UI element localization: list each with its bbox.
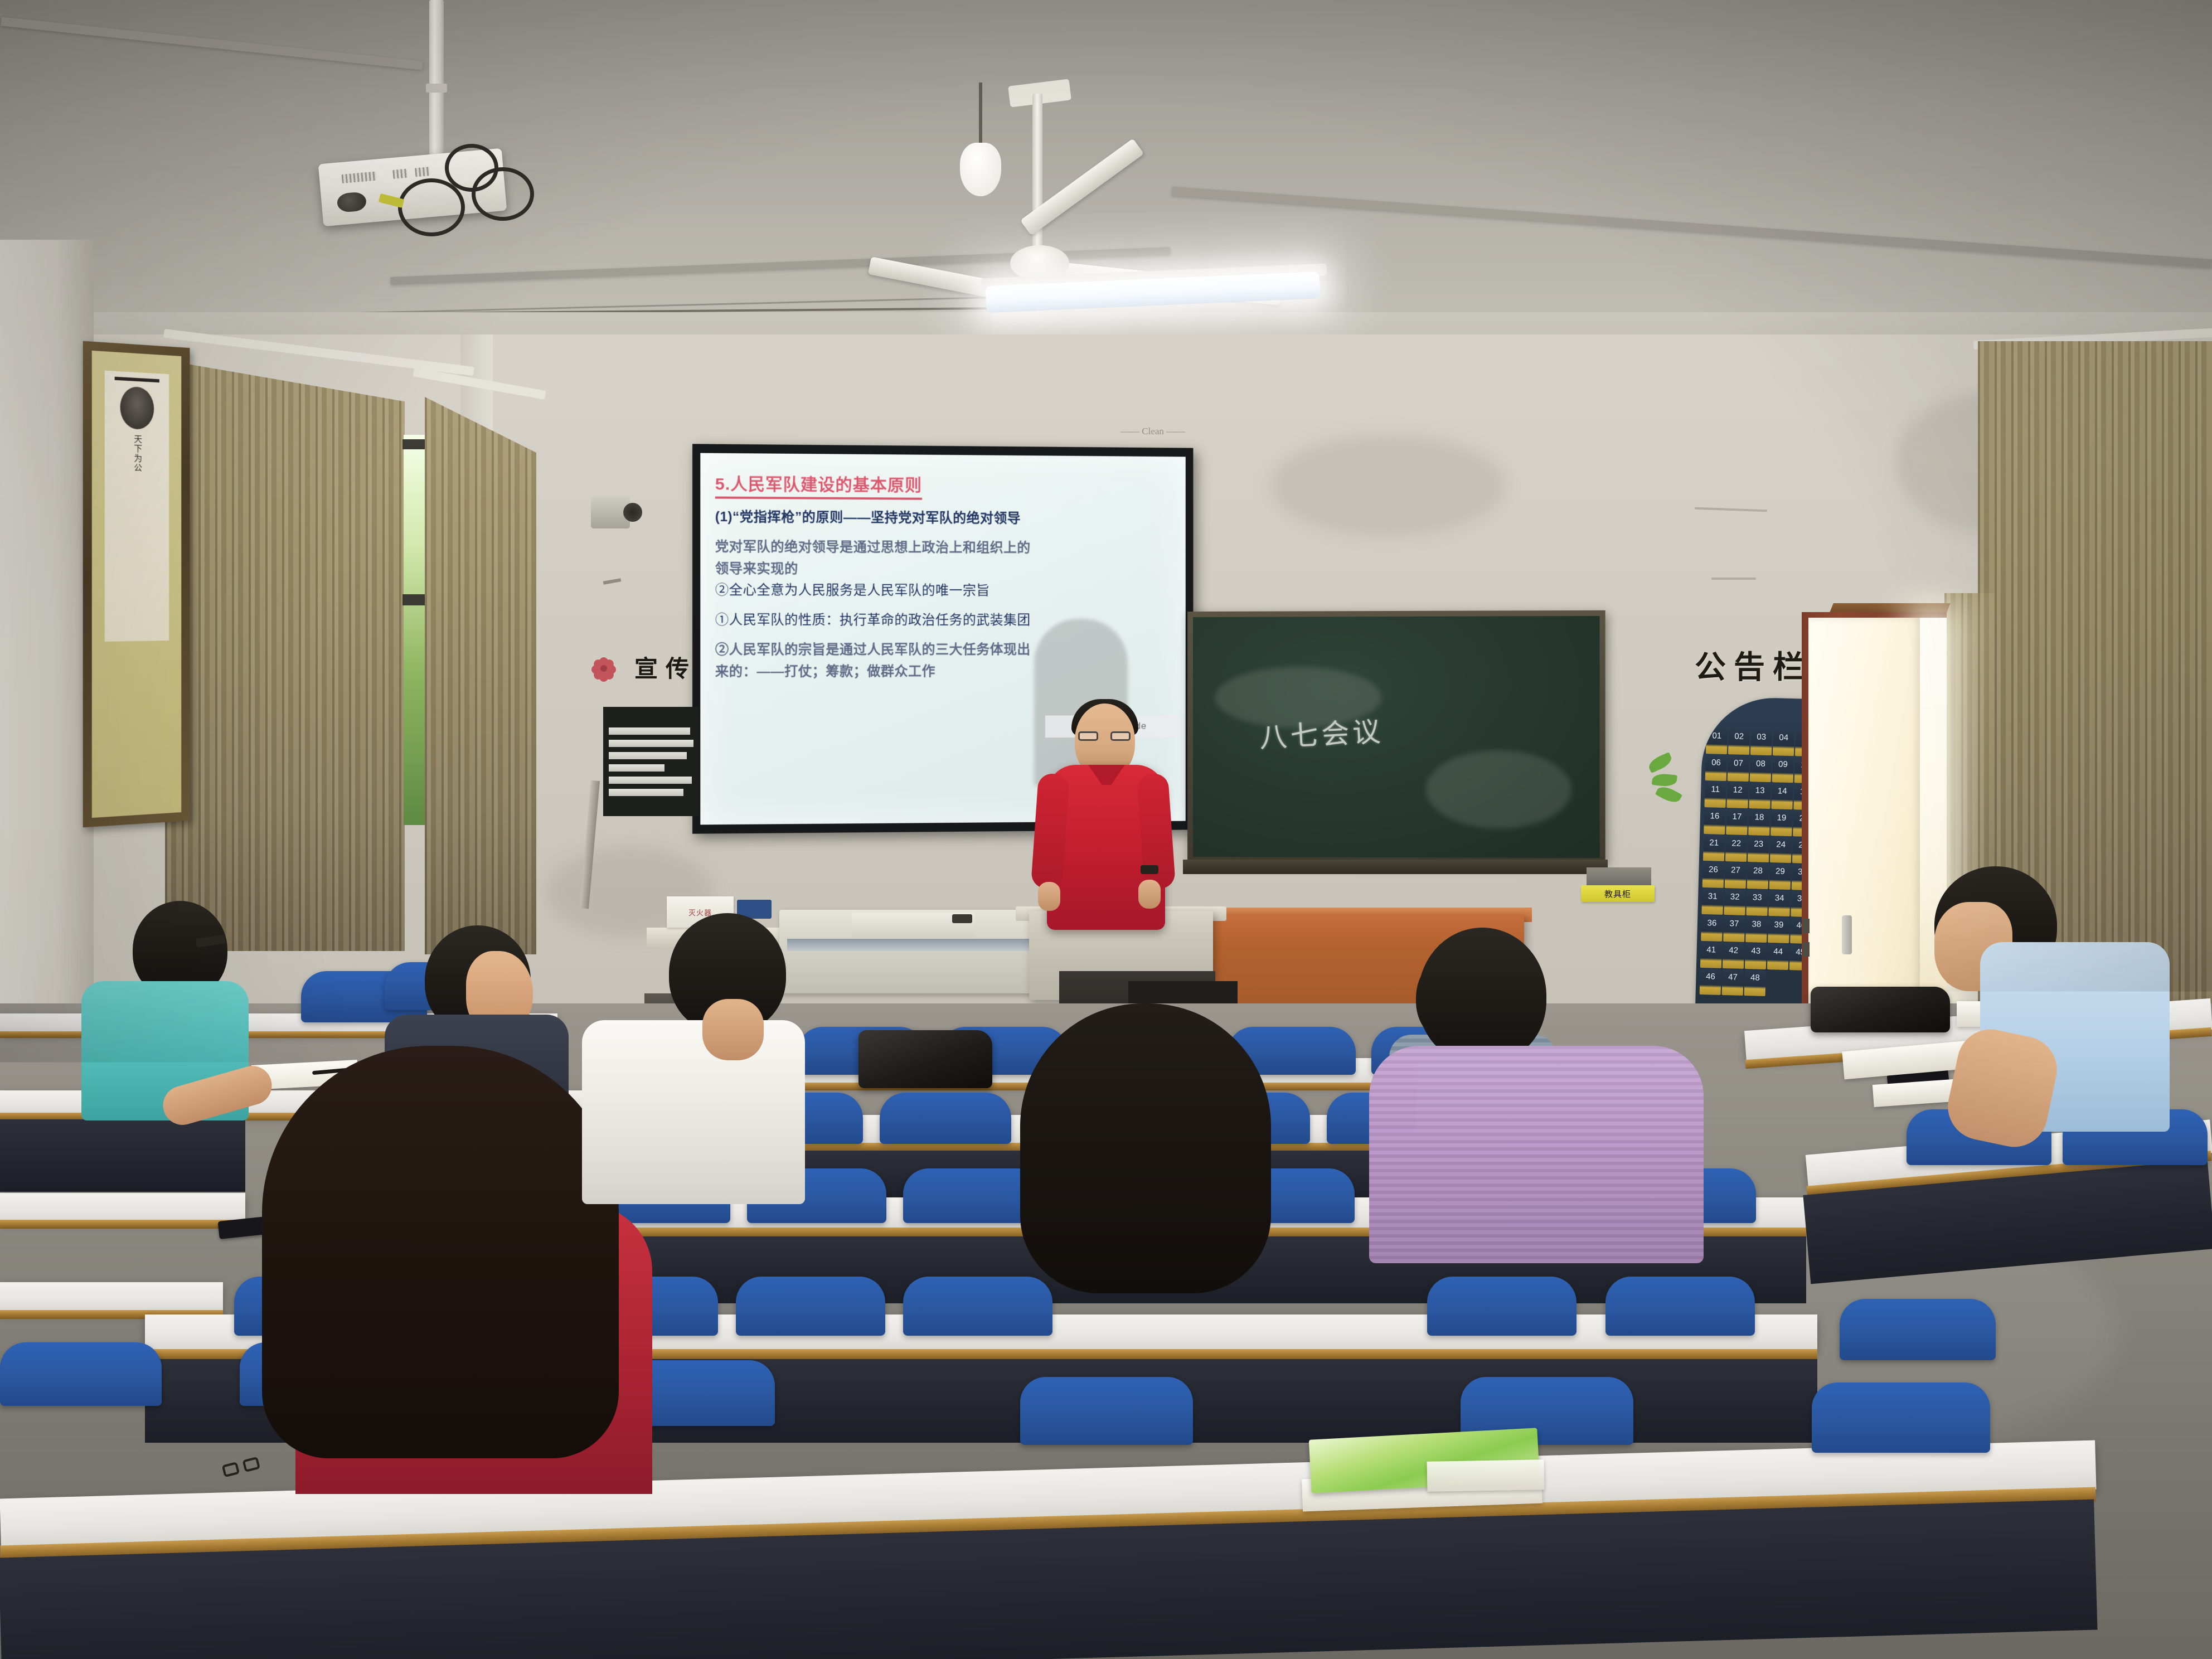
pocket-slot[interactable]: 48 xyxy=(1744,970,1766,996)
wall-scuff-2 xyxy=(1711,578,1756,580)
door-hinge-bottom xyxy=(1803,942,1810,957)
pendant-light-bulb xyxy=(960,143,1001,196)
pocket-slot[interactable]: 11 xyxy=(1704,782,1726,808)
doorway-light-gap xyxy=(1920,618,1947,1047)
notice-strip xyxy=(609,764,664,772)
chair-r6-c6[interactable] xyxy=(1812,1382,1990,1453)
student-polka-dot-torso xyxy=(898,1226,1416,1527)
wall-stain-1 xyxy=(1271,435,1505,535)
student-lavender-torso xyxy=(1369,1046,1704,1263)
notice-strip xyxy=(609,752,687,759)
pocket-slot[interactable]: 41 xyxy=(1700,942,1722,968)
chair-r6-c1[interactable] xyxy=(0,1342,162,1406)
wall-mounted-plate xyxy=(1587,867,1651,887)
pocket-slot[interactable]: 07 xyxy=(1728,755,1749,782)
copier-paper-slot xyxy=(787,939,1060,951)
teacher-hand-right xyxy=(1138,880,1161,909)
pocket-slot[interactable]: 13 xyxy=(1749,783,1770,809)
book-pages-green xyxy=(1427,1459,1545,1492)
photocopier xyxy=(779,910,1069,993)
black-bag-on-desk[interactable] xyxy=(858,1030,992,1088)
curtain-left-panel-2[interactable] xyxy=(425,397,536,954)
pocket-slot[interactable]: 33 xyxy=(1746,890,1768,916)
wall-label-gonggaolan: 公告栏 xyxy=(1695,642,1812,687)
pocket-slot[interactable]: 02 xyxy=(1728,729,1750,755)
pocket-slot[interactable]: 21 xyxy=(1703,835,1725,861)
door-handle[interactable] xyxy=(1842,915,1852,954)
black-bag-right[interactable] xyxy=(1811,987,1950,1032)
pocket-slot[interactable]: 19 xyxy=(1770,810,1792,836)
door-hinge-top xyxy=(1803,919,1810,933)
teacher-wristwatch xyxy=(1141,865,1158,874)
pocket-slot[interactable]: 32 xyxy=(1724,889,1745,915)
pocket-slot[interactable]: 16 xyxy=(1704,808,1725,835)
desk-row-3-left xyxy=(0,1193,245,1222)
blackboard-chalk-text: 八七会议 xyxy=(1258,709,1385,755)
pocket-slot[interactable]: 34 xyxy=(1768,890,1790,916)
pocket-slot[interactable]: 42 xyxy=(1723,943,1744,969)
student-lavender-head xyxy=(1418,928,1546,1064)
student-white-shirt-torso xyxy=(582,1020,805,1204)
pocket-slot[interactable]: 37 xyxy=(1723,916,1745,942)
pocket-slot[interactable]: 06 xyxy=(1705,755,1727,781)
student-red-woman-hair xyxy=(262,1046,619,1458)
slide-title: 5.人民军队建设的基本原则 xyxy=(715,470,922,500)
portrait-verse: 天下为公 xyxy=(131,435,143,636)
pocket-slot[interactable]: 44 xyxy=(1767,944,1789,970)
pocket-slot[interactable]: 17 xyxy=(1726,809,1748,835)
pocket-slot[interactable]: 29 xyxy=(1769,864,1791,890)
framed-portrait-scroll: 天下为公 xyxy=(83,341,190,828)
blackboard-chalk-tray xyxy=(1183,860,1608,874)
copier-knob xyxy=(952,914,972,923)
slide-line-2: 党对军队的绝对领导是通过思想上政治上和组织上的 xyxy=(715,537,1175,559)
pocket-slot[interactable]: 18 xyxy=(1748,809,1770,836)
teacher-glasses-icon xyxy=(1078,731,1132,741)
wall-label-xuanchuan: 宣传 xyxy=(634,650,697,684)
window-gap-left xyxy=(404,435,428,825)
slide-line-1: (1)“党指挥枪”的原则——坚持党对军队的绝对领导 xyxy=(715,508,1175,530)
chair-r3-c3[interactable] xyxy=(880,1093,1011,1144)
wall-speaker-icon xyxy=(591,496,630,528)
projector-pole-joint xyxy=(426,84,447,93)
flower-decal-icon xyxy=(591,656,617,681)
pocket-slot[interactable]: 36 xyxy=(1701,915,1723,942)
pocket-slot[interactable]: 28 xyxy=(1747,863,1769,889)
student-white-shirt-neck xyxy=(702,999,764,1060)
teacher-hand-left xyxy=(1038,882,1060,911)
pocket-slot[interactable]: 24 xyxy=(1770,837,1792,863)
desk-row-4-left xyxy=(0,1282,223,1312)
pocket-slot[interactable]: 22 xyxy=(1725,836,1747,862)
pocket-slot[interactable]: 31 xyxy=(1701,889,1723,915)
pocket-slot[interactable]: 08 xyxy=(1750,756,1772,782)
pocket-slot[interactable]: 14 xyxy=(1771,783,1793,809)
blackboard-surface: 八七会议 xyxy=(1193,616,1600,858)
desk-row-2-left-skirt xyxy=(0,1119,245,1192)
slide-line-4: ②全心全意为人民服务是人民军队的唯一宗旨 xyxy=(715,581,1175,601)
slide-line-3: 领导来实现的 xyxy=(715,559,1175,580)
chair-right-3[interactable] xyxy=(1840,1299,1996,1360)
pendant-light-wire xyxy=(979,83,982,149)
notice-strip xyxy=(609,789,683,796)
pocket-slot[interactable]: 39 xyxy=(1768,917,1789,943)
chair-r5-c6[interactable] xyxy=(1427,1277,1576,1336)
pocket-slot[interactable]: 27 xyxy=(1725,862,1747,889)
pocket-slot[interactable]: 12 xyxy=(1726,782,1748,808)
pocket-slot[interactable]: 26 xyxy=(1702,862,1724,888)
portrait-photo xyxy=(120,386,154,430)
chair-r5-c7[interactable] xyxy=(1605,1277,1755,1336)
pocket-slot[interactable]: 46 xyxy=(1700,969,1721,995)
pocket-slot[interactable]: 43 xyxy=(1745,943,1767,969)
pocket-slot[interactable]: 09 xyxy=(1772,756,1794,783)
chair-r5-c4[interactable] xyxy=(736,1277,885,1336)
desk-row-3-left-edge xyxy=(0,1220,245,1229)
pocket-slot[interactable]: 03 xyxy=(1750,729,1772,755)
pocket-slot[interactable]: 23 xyxy=(1748,836,1769,862)
classroom-door[interactable] xyxy=(1808,618,1920,1047)
notice-strip xyxy=(609,740,693,747)
wall-pencil-scribble-1: —— Clean —— xyxy=(1120,426,1185,437)
classroom-photo-scene: —— Clean —— 天下为公 5.人民军队建设的基本原则 (1)“党指挥枪”… xyxy=(0,0,2212,1659)
cabinet-yellow-label: 教具柜 xyxy=(1581,885,1655,902)
projector-cable-loop-2 xyxy=(472,167,534,221)
curtain-left-panel[interactable] xyxy=(165,360,405,951)
notice-board-left xyxy=(603,707,699,816)
pocket-slot[interactable]: 38 xyxy=(1745,916,1767,943)
notice-strip xyxy=(609,727,690,735)
notice-strip xyxy=(609,777,692,784)
blackboard: 八七会议 xyxy=(1187,610,1605,864)
pocket-slot[interactable]: 04 xyxy=(1773,730,1794,756)
projector-cable-loop-3 xyxy=(398,178,465,236)
leaf-decal-icon xyxy=(1649,754,1699,798)
pocket-slot[interactable]: 47 xyxy=(1722,969,1744,996)
